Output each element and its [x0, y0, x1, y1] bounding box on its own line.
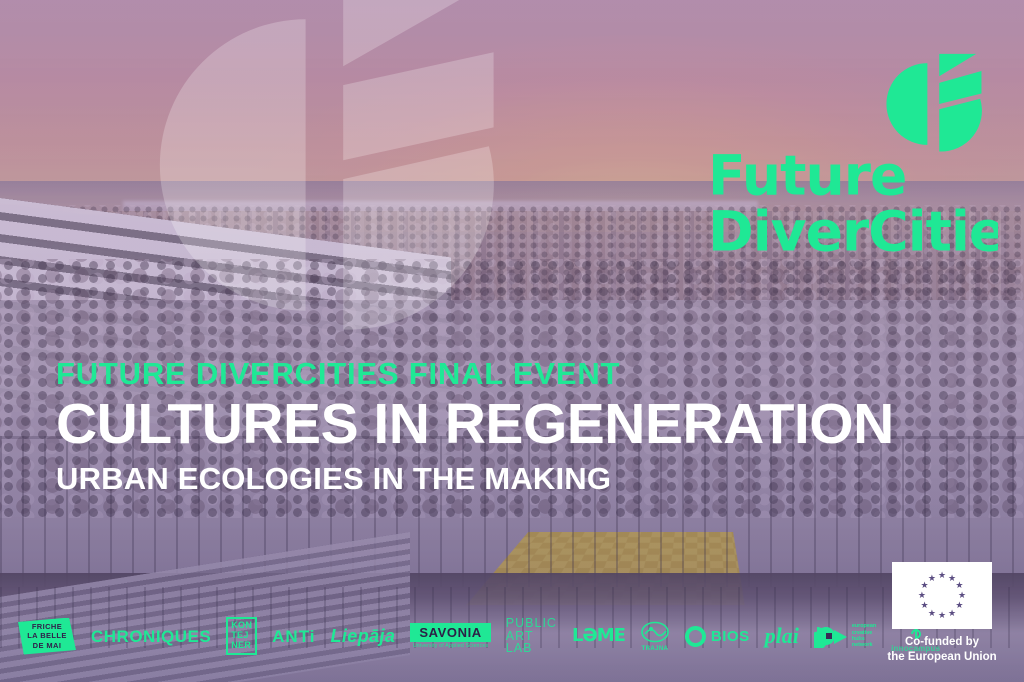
echn-line-4: network [852, 642, 876, 648]
partner-logo-trajna[interactable]: TRAJNA [640, 621, 670, 652]
eu-cofunding-badge: ★★★★★★★★★★★★ Co-funded by the European U… [882, 562, 1002, 664]
brand-line-1: Future [708, 143, 906, 207]
partner-logo-public-art-lab[interactable]: PUBLIC ART LAB [506, 617, 557, 655]
partner-logo-friche[interactable]: FRICHE LA BELLE DE MAI [18, 618, 76, 655]
eu-star-icon: ★ [920, 601, 929, 610]
friche-line-2: LA BELLE [27, 631, 67, 640]
eu-star-icon: ★ [938, 611, 947, 620]
partner-logo-plai[interactable]: plai [765, 625, 799, 647]
savonia-subtitle: University of Applied Sciences [413, 644, 489, 649]
brand-line-2: DiverCities [708, 199, 998, 263]
partner-logo-strip: FRICHE LA BELLE DE MAI CHRONIQUES KON TE… [18, 614, 844, 658]
brand-logo: Future DiverCities [708, 38, 998, 260]
partner-logo-kontejner[interactable]: KON TEJ NER [226, 617, 257, 654]
european-union-flag-icon: ★★★★★★★★★★★★ [892, 562, 992, 629]
partner-logo-chroniques[interactable]: CHRONIQUES [91, 628, 211, 645]
echn-line-1: european [852, 623, 876, 629]
partner-logo-savonia[interactable]: SAVONIA University of Applied Sciences [410, 623, 490, 649]
savonia-name: SAVONIA [410, 623, 490, 642]
trajna-leaf-icon [640, 621, 670, 645]
partner-logo-liepaja[interactable]: Liepāja [331, 627, 396, 645]
partner-logo-lame[interactable]: LƏME [572, 627, 625, 645]
headline-block: FUTURE DIVERCITIES FINAL EVENT CULTURES … [56, 358, 986, 494]
eu-star-icon: ★ [955, 581, 964, 590]
echn-mark-icon [814, 624, 848, 648]
partner-logo-bios[interactable]: BIOS [685, 626, 750, 647]
eu-caption-line-1: Co-funded by [882, 635, 1002, 649]
eu-star-icon: ★ [958, 591, 967, 600]
eu-star-icon: ★ [938, 571, 947, 580]
bios-ring-icon [685, 626, 706, 647]
eu-star-icon: ★ [948, 609, 957, 618]
partner-logo-anti[interactable]: ANTi [272, 628, 315, 645]
eu-caption: Co-funded by the European Union [882, 635, 1002, 664]
event-eyebrow: FUTURE DIVERCITIES FINAL EVENT [56, 358, 986, 389]
bios-name: BIOS [711, 629, 750, 644]
eu-star-icon: ★ [927, 574, 936, 583]
trajna-name: TRAJNA [642, 646, 669, 652]
poster-canvas: Future DiverCities FUTURE DIVERCITIES FI… [0, 0, 1024, 682]
friche-line-3: DE MAI [27, 641, 67, 650]
echn-text: european creative hubs network [852, 623, 876, 649]
eu-caption-line-2: the European Union [882, 650, 1002, 664]
event-title: CULTURES IN REGENERATION [56, 396, 986, 453]
kontejner-line-3: NER [231, 641, 252, 651]
pal-line-1: PUBLIC [506, 617, 557, 630]
partner-logo-european-creative-hubs-network[interactable]: european creative hubs network [814, 623, 876, 649]
brand-wordmark: Future DiverCities [708, 142, 998, 260]
brand-wordmark-text: Future DiverCities [708, 142, 998, 266]
event-subtitle: URBAN ECOLOGIES IN THE MAKING [56, 463, 986, 494]
pal-line-3: LAB [506, 642, 557, 655]
eu-star-icon: ★ [917, 591, 926, 600]
friche-line-1: FRICHE [27, 622, 67, 631]
